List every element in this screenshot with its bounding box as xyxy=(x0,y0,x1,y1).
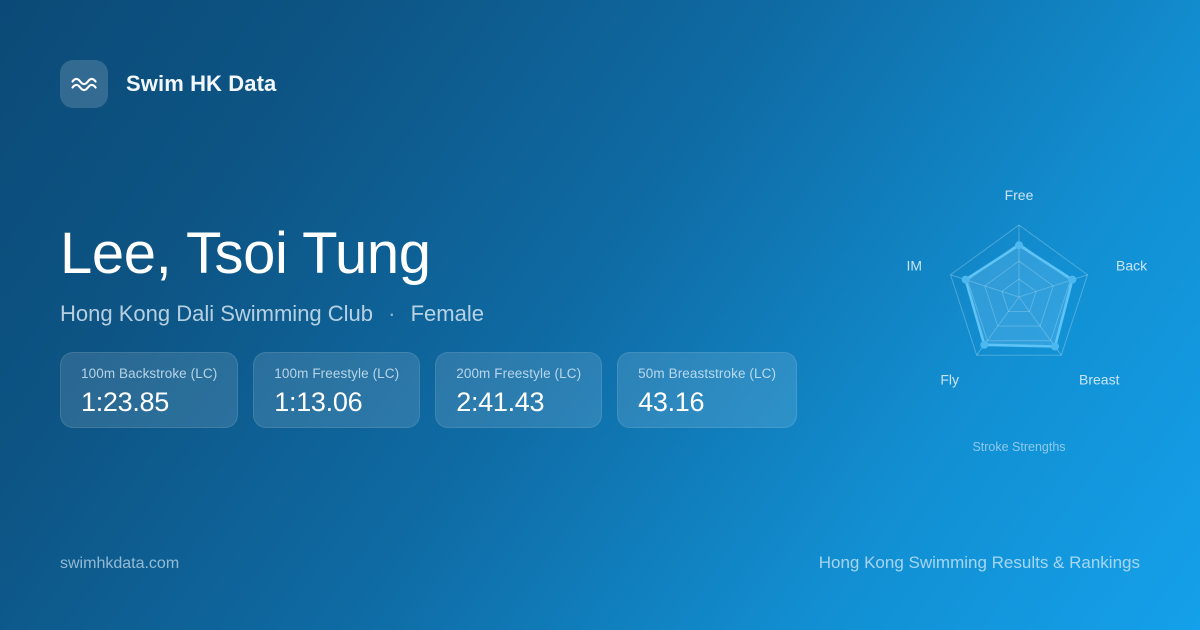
stat-card-row: 100m Backstroke (LC) 1:23.85 100m Freest… xyxy=(60,352,797,428)
radar-data-point xyxy=(1015,241,1023,249)
stat-card-label: 50m Breaststroke (LC) xyxy=(638,366,776,381)
radar-data-point xyxy=(1051,343,1059,351)
stroke-strengths-radar-chart: FreeBackBreastFlyIM Stroke Strengths xyxy=(869,175,1169,465)
athlete-gender: Female xyxy=(411,301,484,326)
stat-card-value: 1:23.85 xyxy=(81,387,217,418)
athlete-hero: Lee, Tsoi Tung Hong Kong Dali Swimming C… xyxy=(60,222,860,327)
radar-data-point xyxy=(1068,276,1076,284)
stat-card-value: 2:41.43 xyxy=(456,387,581,418)
footer-site-url: swimhkdata.com xyxy=(60,555,179,573)
radar-data-point xyxy=(962,276,970,284)
stat-card-label: 100m Freestyle (LC) xyxy=(274,366,399,381)
meta-separator: · xyxy=(379,301,404,327)
radar-data-point xyxy=(980,341,988,349)
brand-header: Swim HK Data xyxy=(60,60,276,108)
athlete-club: Hong Kong Dali Swimming Club xyxy=(60,301,373,326)
stat-card: 50m Breaststroke (LC) 43.16 xyxy=(617,352,797,428)
stat-card-value: 1:13.06 xyxy=(274,387,399,418)
stat-card: 100m Freestyle (LC) 1:13.06 xyxy=(253,352,420,428)
stat-card: 200m Freestyle (LC) 2:41.43 xyxy=(435,352,602,428)
radar-axis-label: Fly xyxy=(940,372,959,388)
radar-axis-label: Back xyxy=(1116,258,1148,274)
radar-axis-label: IM xyxy=(906,258,922,274)
footer-tagline: Hong Kong Swimming Results & Rankings xyxy=(819,553,1140,573)
stat-card-label: 200m Freestyle (LC) xyxy=(456,366,581,381)
radar-data-area xyxy=(966,245,1073,346)
stat-card-label: 100m Backstroke (LC) xyxy=(81,366,217,381)
radar-axis-label: Free xyxy=(1005,187,1034,203)
brand-name: Swim HK Data xyxy=(126,71,276,97)
radar-caption: Stroke Strengths xyxy=(972,440,1065,454)
athlete-meta: Hong Kong Dali Swimming Club · Female xyxy=(60,301,860,327)
stat-card: 100m Backstroke (LC) 1:23.85 xyxy=(60,352,238,428)
wave-icon xyxy=(60,60,108,108)
stat-card-value: 43.16 xyxy=(638,387,776,418)
radar-axis-label: Breast xyxy=(1079,372,1120,388)
page-title: Lee, Tsoi Tung xyxy=(60,222,860,287)
